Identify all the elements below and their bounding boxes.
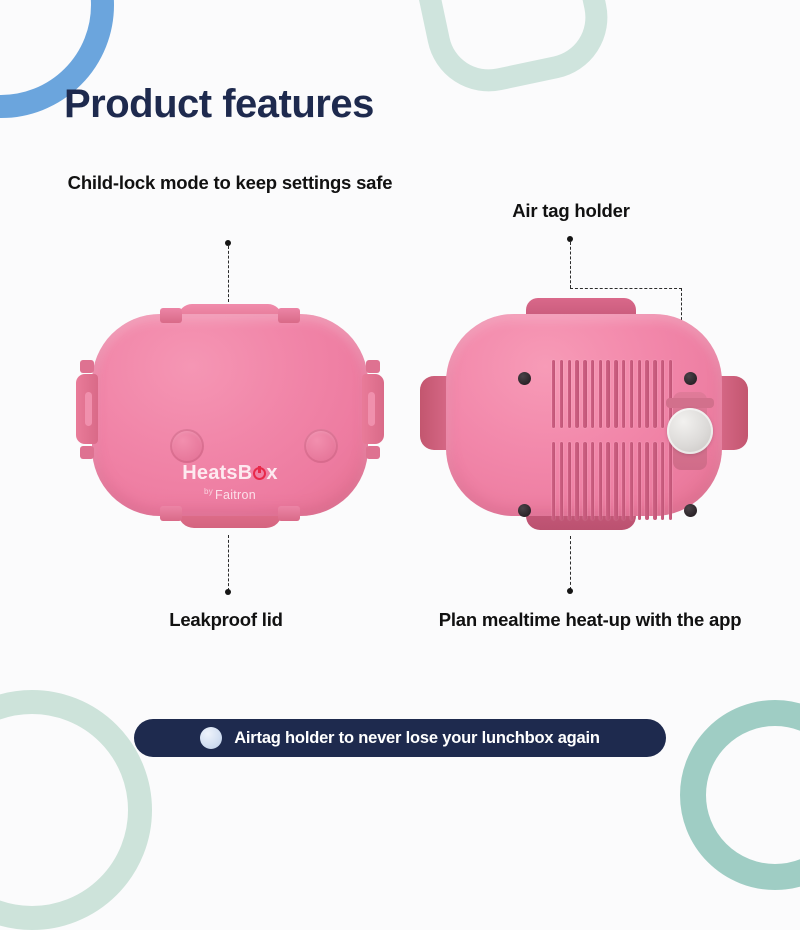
vent-slat [638,442,641,520]
underside-surface [446,314,722,516]
vent-slat [606,442,609,520]
vent-slat [630,442,633,520]
vent-slat [583,360,586,428]
vent-slat [599,442,602,520]
vent-slat [560,442,563,520]
brand-name: HeatsBx [182,462,277,485]
lid-clip-bottom-right [278,506,300,521]
brand-maker-text: Faitron [215,488,256,502]
feature-label-app: Plan mealtime heat-up with the app [430,607,750,633]
rubber-foot-bottom-left [518,504,531,517]
vent-slat [614,360,617,428]
vent-slat [591,360,594,428]
lid-button-right [304,429,338,463]
vent-slat [653,442,656,520]
vent-slat [568,360,571,428]
vent-block-top [552,360,672,428]
vent-slat [638,360,641,428]
product-image-lunchbox-lid: HeatsBx byFaitron [70,300,390,530]
latch-nub-left-bottom [80,446,94,459]
bottom-banner: Airtag holder to never lose your lunchbo… [134,719,666,757]
product-image-lunchbox-underside [418,298,748,532]
lid-clip-top-left [160,308,182,323]
airtag-clip-bar [666,398,714,408]
vent-slat [630,360,633,428]
lid-clip-bottom-left [160,506,182,521]
side-latch-left [76,374,98,444]
rubber-foot-top-right [684,372,697,385]
vent-slat [591,442,594,520]
side-latch-right [362,374,384,444]
rubber-foot-top-left [518,372,531,385]
vent-slat [614,442,617,520]
top-right-rounded-square-decoration [403,0,619,103]
vent-slat [575,442,578,520]
feature-label-child-lock: Child-lock mode to keep settings safe [60,170,400,196]
airtag-circle-icon [200,727,222,749]
vent-slat [653,360,656,428]
power-symbol-icon [253,467,266,480]
vent-slat [606,360,609,428]
lid-clip-top-right [278,308,300,323]
bottom-left-ring-decoration [0,690,152,930]
vent-slat [599,360,602,428]
brand-maker-line: byFaitron [92,487,368,502]
vent-slat [568,442,571,520]
page-title: Product features [64,82,374,127]
bottom-right-ring-decoration [680,700,800,890]
lid-button-left [170,429,204,463]
vent-slat [622,442,625,520]
vent-slat [583,442,586,520]
vent-slat [560,360,563,428]
vent-slat [622,360,625,428]
feature-label-air-tag: Air tag holder [440,198,702,224]
vent-slat [575,360,578,428]
brand-by-text: by [204,487,213,496]
vent-slat [645,442,648,520]
latch-nub-right-bottom [366,446,380,459]
airtag-holder [664,392,716,470]
vent-slat [552,360,555,428]
airtag-disc-icon [667,408,713,454]
banner-text: Airtag holder to never lose your lunchbo… [234,729,600,748]
vent-slat [552,442,555,520]
brand-logo: HeatsBx byFaitron [92,462,368,502]
latch-nub-left-top [80,360,94,373]
latch-nub-right-top [366,360,380,373]
vent-block-bottom [552,442,672,520]
lid-surface: HeatsBx byFaitron [92,314,368,516]
vent-slat [645,360,648,428]
rubber-foot-bottom-right [684,504,697,517]
feature-label-leakproof: Leakproof lid [86,607,366,633]
